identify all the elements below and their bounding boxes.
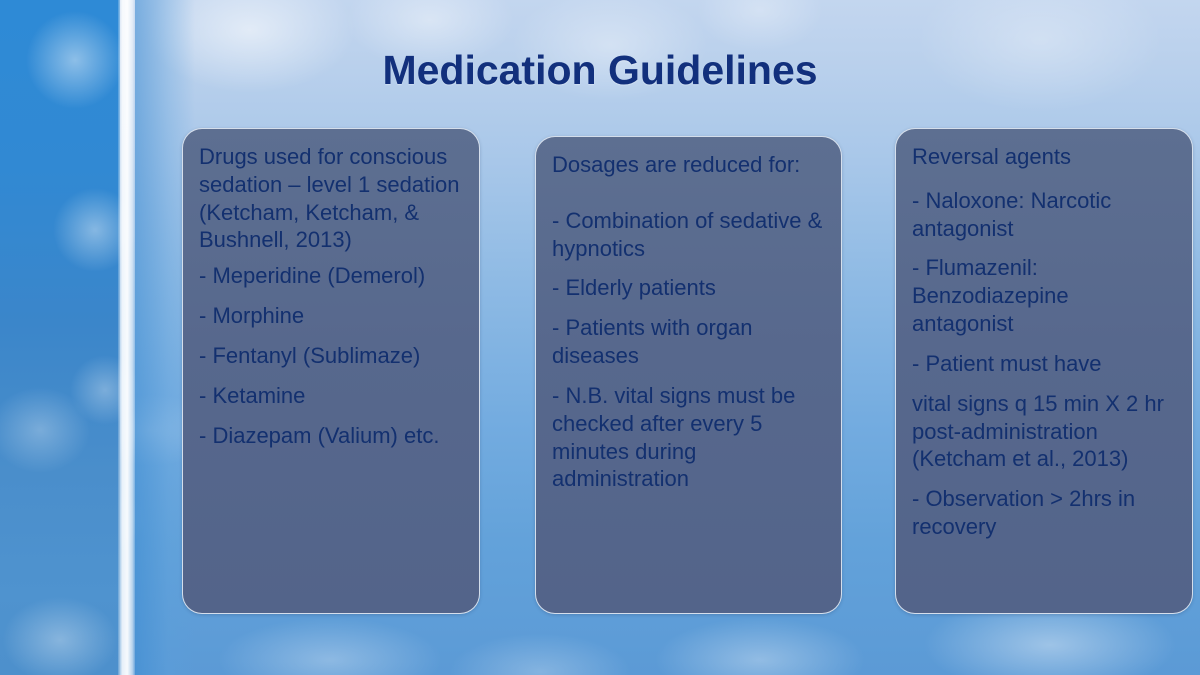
list-item: vital signs q 15 min X 2 hr post-adminis… [912, 390, 1176, 473]
list-item: - Morphine [199, 302, 463, 330]
page-title: Medication Guidelines [0, 47, 1200, 94]
list-item: - Patients with organ diseases [552, 314, 825, 370]
box-heading: Drugs used for conscious sedation – leve… [199, 143, 463, 254]
list-item: - Patient must have [912, 350, 1176, 378]
box-heading: Reversal agents [912, 143, 1176, 171]
list-item: - Combination of sedative & hypnotics [552, 207, 825, 263]
slide-canvas: Medication Guidelines Drugs used for con… [0, 0, 1200, 675]
list-item: - Observation > 2hrs in recovery [912, 485, 1176, 541]
box-heading: Dosages are reduced for: [552, 151, 825, 179]
content-box-dosages-reduced: Dosages are reduced for: - Combination o… [535, 136, 842, 614]
list-item: - Meperidine (Demerol) [199, 262, 463, 290]
list-item: - Fentanyl (Sublimaze) [199, 342, 463, 370]
left-blue-band-decoration [0, 0, 120, 675]
list-item: - Elderly patients [552, 274, 825, 302]
vertical-white-divider [118, 0, 135, 675]
list-item: - Diazepam (Valium) etc. [199, 422, 463, 450]
list-item: - Ketamine [199, 382, 463, 410]
content-box-reversal-agents: Reversal agents - Naloxone: Narcotic ant… [895, 128, 1193, 614]
list-item: - Flumazenil: Benzodiazepine antagonist [912, 254, 1176, 337]
content-box-drugs-used: Drugs used for conscious sedation – leve… [182, 128, 480, 614]
list-item: - Naloxone: Narcotic antagonist [912, 187, 1176, 243]
list-item: - N.B. vital signs must be checked after… [552, 382, 825, 493]
